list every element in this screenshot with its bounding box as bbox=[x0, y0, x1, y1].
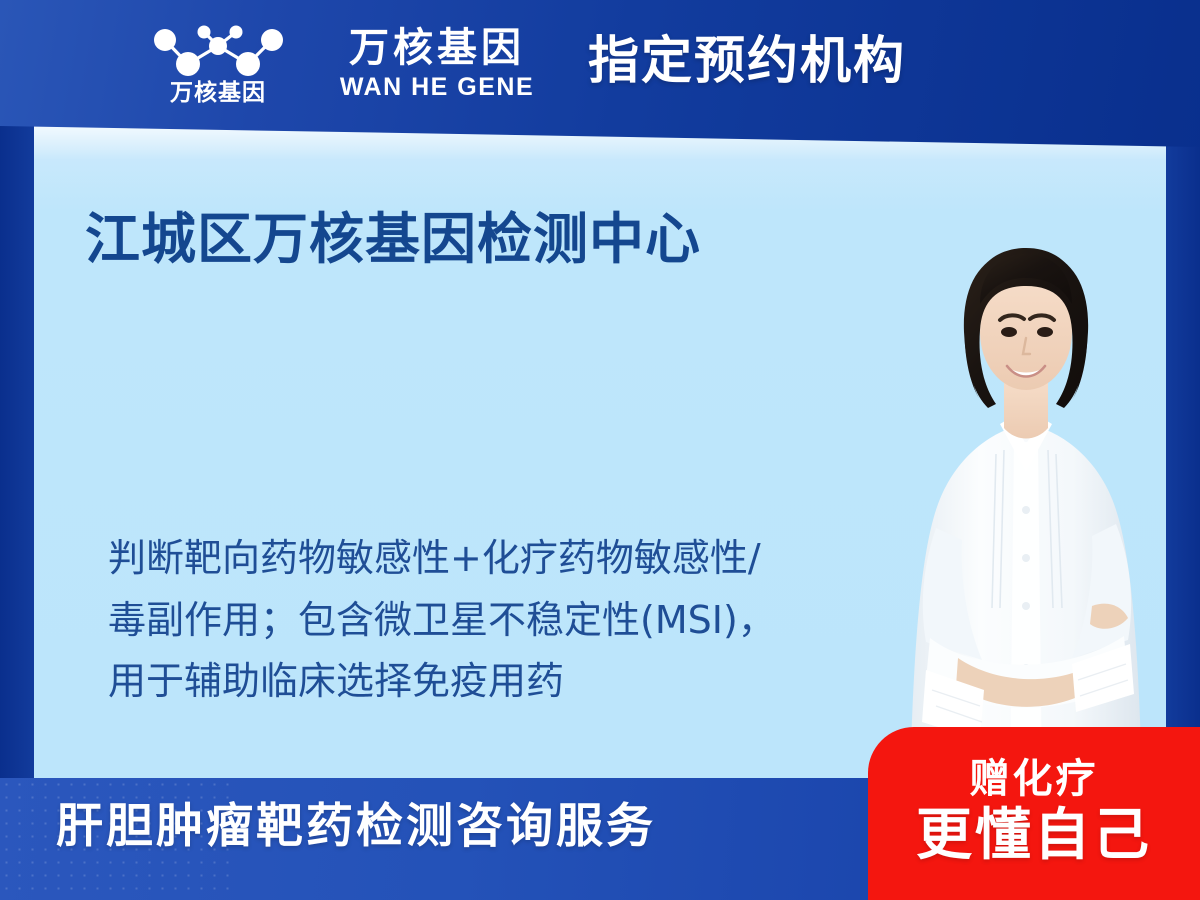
description-line-3: 用于辅助临床选择免疫用药 bbox=[108, 651, 898, 713]
header-tagline: 指定预约机构 bbox=[588, 34, 906, 90]
promo-line-1: 赠化疗 bbox=[970, 757, 1099, 801]
footer-headline: 肝胆肿瘤靶药检测咨询服务 bbox=[56, 800, 656, 854]
molecule-network-icon bbox=[148, 24, 288, 80]
right-edge-strip bbox=[1166, 140, 1200, 780]
brand-name-en: WAN HE GENE bbox=[340, 75, 534, 100]
description-text: 判断靶向药物敏感性+化疗药物敏感性/ 毒副作用；包含微卫星不稳定性(MSI)， … bbox=[108, 528, 898, 713]
description-line-2: 毒副作用；包含微卫星不稳定性(MSI)， bbox=[108, 590, 898, 652]
promo-line-2: 更懂自己 bbox=[916, 805, 1152, 867]
promo-poster: 万核基因 万核基因 WAN HE GENE 指定预约机构 江城区万核基因检测中心… bbox=[0, 0, 1200, 900]
portrait-photo bbox=[896, 228, 1156, 780]
brand-logo-mark-block: 万核基因 bbox=[143, 24, 293, 116]
page-title: 江城区万核基因检测中心 bbox=[85, 205, 701, 274]
promo-badge[interactable]: 赠化疗 更懂自己 bbox=[868, 727, 1200, 900]
logo-mark-caption: 万核基因 bbox=[170, 82, 266, 105]
brand-name-cn: 万核基因 bbox=[349, 26, 525, 71]
left-edge-strip bbox=[0, 120, 34, 780]
brand-wordmark: 万核基因 WAN HE GENE bbox=[322, 26, 552, 100]
description-line-1: 判断靶向药物敏感性+化疗药物敏感性/ bbox=[108, 528, 898, 590]
